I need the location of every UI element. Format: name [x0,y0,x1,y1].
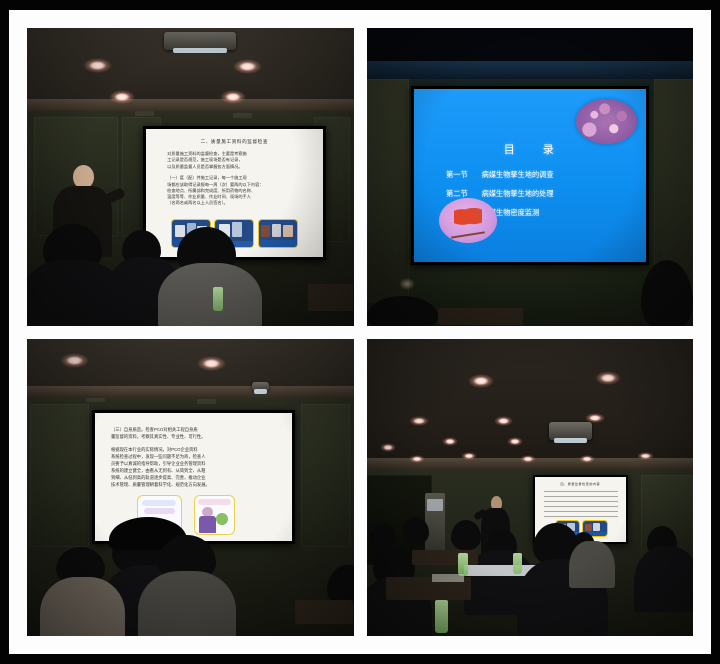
audience-body [569,541,615,589]
photo-bottom-right[interactable]: 四、质量监督检查的内容 [367,339,694,637]
slide-surface: 目 录 第一节 病媒生物孳生地的调查 第二节 病媒生物孳生地的处理 第三节 [414,89,646,262]
wall-panel [30,404,89,547]
ceiling-projector [164,32,236,50]
downlight [380,443,396,452]
slide-heading: 目 录 [414,141,646,157]
audience-body [634,547,693,612]
photo-grid: 二、质量施工资料的监督检查 对质量施工资料的监督检查，主要是考察施 工记录是否规… [9,10,711,654]
moth-image [439,198,497,243]
ceiling-vent [86,398,106,402]
slide-paragraph: 对质量施工资料的监督检查，主要是考察施 工记录是否规范，施工现场是否有记录， 以… [167,151,305,171]
slide-title: 四、质量监督检查的内容 [535,482,627,486]
slide-paragraph: 根据现在本行业的实际情况，对PCO企业资料 系统检查过程中，发现一些问题不足为奇… [111,447,278,488]
ceiling-vent [233,113,253,118]
audience-head [451,520,480,550]
collage-canvas: 二、质量施工资料的监督检查 对质量施工资料的监督检查，主要是考察施 工记录是否规… [0,0,720,664]
toc-number: 第一节 [446,170,468,179]
slide-line: 技术管理、质量管理朝着科学化、规范化方向发展。 [111,482,278,489]
moth-icon [454,208,482,228]
ceiling-soffit [367,61,694,79]
toc-item-1: 第一节 病媒生物孳生地的调查 [446,170,553,180]
slide-line: 到细、从低到高的轨道逐步提高、完善，推动企业 [111,475,278,482]
audience-head [402,517,428,544]
ceiling-projector [252,382,268,391]
paper-on-table [432,574,465,583]
toc-text: 病媒生物孳生地的调查 [482,170,554,179]
water-bottle [213,287,223,311]
downlight [109,90,135,103]
photo-bottom-left[interactable]: （三）自身质造。检查PCO对相关工程自身质 量监督的资料，考察其真实性、专业性、… [27,339,354,637]
projection-screen: 目 录 第一节 病媒生物孳生地的调查 第二节 病媒生物孳生地的处理 第三节 [411,86,649,265]
air-conditioner-panel [427,499,443,511]
wall-panel [301,404,350,547]
downlight [442,437,458,446]
water-bottle [513,553,521,574]
slide-line: 员要予以真诚的指导帮助，引导企业业务管理资料 [111,461,278,468]
twig [451,232,485,239]
slide-line: （三）自身质造。检查PCO对相关工程自身质 [111,427,278,434]
downlight [507,437,523,446]
audience-body [158,263,262,325]
toc-text: 病媒生物孳生地的处理 [482,189,554,198]
table [412,550,477,565]
projection-screen: 二、质量施工资料的监督检查 对质量施工资料的监督检查，主要是考察施 工记录是否规… [143,126,326,260]
table [295,600,354,624]
photo-top-left[interactable]: 二、质量施工资料的监督检查 对质量施工资料的监督检查，主要是考察施 工记录是否规… [27,28,354,326]
slide-text-lines [544,491,618,517]
downlight [494,416,514,426]
slide-line: 以及质量监督人员是否掌握各方面情况。 [167,164,305,171]
slide-thumbnail [258,219,298,248]
slide-cartoon [194,495,235,535]
audience-head [370,523,396,550]
downlight [409,416,429,426]
equipment-light [399,278,415,290]
downlight [468,374,494,387]
downlight [595,371,621,384]
ceiling-vent [197,399,217,403]
ceiling-projector [549,422,591,440]
ceiling-vent [135,111,155,116]
toc-number: 第二节 [446,189,468,198]
slide-line: 系统的建立健全，由看从无到有、从简到全、从粗 [111,468,278,475]
downlight [233,59,262,74]
photo-top-right[interactable]: 目 录 第一节 病媒生物孳生地的调查 第二节 病媒生物孳生地的处理 第三节 [367,28,694,326]
slide-title: 二、质量施工资料的监督检查 [146,139,323,145]
slide-line: （名两名或两名以上人员签名）。 [167,200,305,206]
slide-line: 量监督的资料，考察其真实性、专业性、可行性。 [111,434,278,441]
ceiling [367,28,694,61]
slide-paragraph: （一）度（配）件施工记录，每一个施工现 场都应该取得记录报每一周（次）要两的以下… [167,175,305,206]
wall-panel [367,79,409,302]
slide-paragraph: （三）自身质造。检查PCO对相关工程自身质 量监督的资料，考察其真实性、专业性、… [111,427,278,441]
water-bottle [435,600,448,633]
audience-body [138,571,236,636]
downlight [220,90,246,103]
audience-body [40,577,125,637]
table [308,284,354,311]
cell-cluster-image [576,99,636,144]
table [438,308,523,326]
downlight [83,58,112,73]
slide-surface: 二、质量施工资料的监督检查 对质量施工资料的监督检查，主要是考察施 工记录是否规… [146,129,323,257]
